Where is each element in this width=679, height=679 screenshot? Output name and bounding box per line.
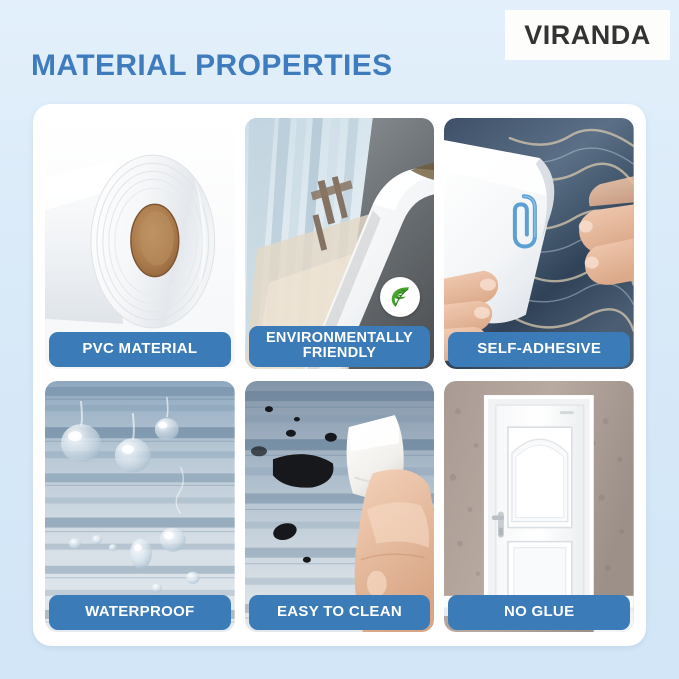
feature-grid: PVC MATERIAL bbox=[45, 118, 634, 632]
card-label-self-adhesive: SELF-ADHESIVE bbox=[448, 332, 630, 367]
feature-card-no-glue: NO GLUE bbox=[444, 381, 634, 632]
card-label-no-glue: NO GLUE bbox=[448, 595, 630, 630]
card-label-pvc-material: PVC MATERIAL bbox=[49, 332, 231, 367]
leaf-icon bbox=[387, 284, 413, 310]
feature-card-easy-to-clean: EASY TO CLEAN bbox=[245, 381, 435, 632]
feature-card-environmentally-friendly: ENVIRONMENTALLY FRIENDLY bbox=[245, 118, 435, 369]
card-label-environmentally-friendly: ENVIRONMENTALLY FRIENDLY bbox=[249, 326, 431, 367]
wiping-stains-image bbox=[245, 381, 435, 632]
water-droplets-image bbox=[45, 381, 235, 632]
card-label-easy-to-clean: EASY TO CLEAN bbox=[249, 595, 431, 630]
pvc-roll-image bbox=[45, 118, 235, 369]
product-infographic: VIRANDA MATERIAL PROPERTIES bbox=[0, 0, 679, 679]
feature-panel: PVC MATERIAL bbox=[33, 104, 646, 646]
page-title: MATERIAL PROPERTIES bbox=[31, 49, 393, 83]
peel-backing-image bbox=[444, 118, 634, 369]
door-image bbox=[444, 381, 634, 632]
brand-name: VIRANDA bbox=[524, 20, 651, 51]
feature-card-pvc-material: PVC MATERIAL bbox=[45, 118, 235, 369]
card-label-waterproof: WATERPROOF bbox=[49, 595, 231, 630]
feature-card-self-adhesive: SELF-ADHESIVE bbox=[444, 118, 634, 369]
feature-card-waterproof: WATERPROOF bbox=[45, 381, 235, 632]
brand-logo: VIRANDA bbox=[505, 10, 670, 60]
